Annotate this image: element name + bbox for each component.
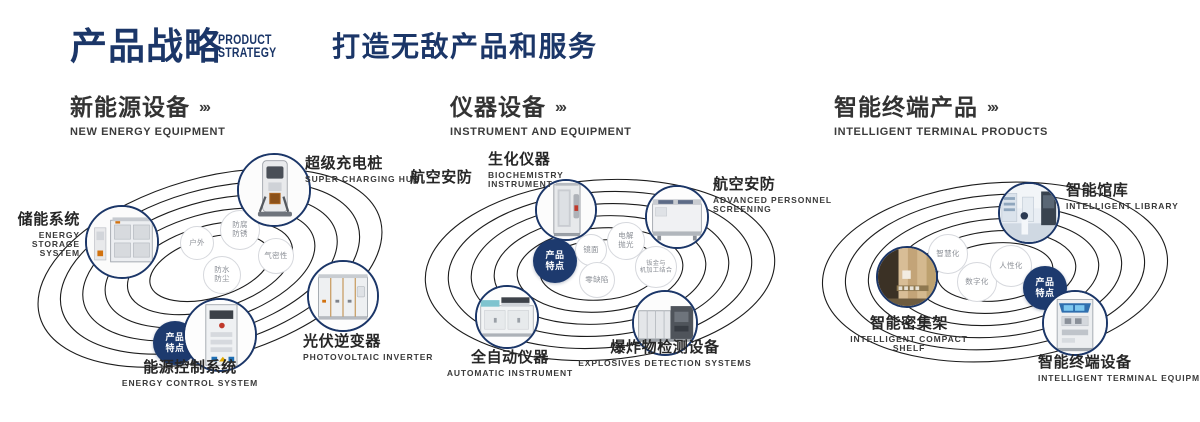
cluster-intelligent-terminal: 智慧化 数字化 人性化 产品特点 xyxy=(800,150,1200,415)
chevron-triple-icon-2: ››› xyxy=(555,100,565,116)
node-advanced-personnel-screening[interactable] xyxy=(645,185,709,249)
cluster-new-energy: 产品特点 户外 防腐 防锈 防水 防尘 气密性 xyxy=(0,150,400,415)
section-title-en-2: INSTRUMENT AND EQUIPMENT xyxy=(450,126,631,138)
node-intelligent-terminal-equipment[interactable] xyxy=(1042,290,1108,356)
feature-bubble-zero-defect: 零缺陷 xyxy=(579,262,615,298)
chevron-triple-icon-3: ››› xyxy=(987,100,997,116)
charging-pile-icon xyxy=(239,155,309,225)
auto-analyzer-icon xyxy=(477,287,537,347)
section-title-en-1: NEW ENERGY EQUIPMENT xyxy=(70,126,225,138)
node-super-charging-hub[interactable] xyxy=(237,153,311,227)
section-title-cn-3: 智能终端产品››› xyxy=(834,96,1048,119)
feature-text-0-3: 气密性 xyxy=(264,252,287,261)
section-heading-new-energy: 新能源设备››› NEW ENERGY EQUIPMENT xyxy=(70,96,225,138)
feature-text-1-0: 镜面 xyxy=(583,246,599,255)
product-strategy-infographic: 产品战略 PRODUCT STRATEGY 打造无敌产品和服务 新能源设备›››… xyxy=(0,0,1200,422)
chevron-triple-icon-1: ››› xyxy=(199,100,209,116)
section-heading-intelligent: 智能终端产品››› INTELLIGENT TERMINAL PRODUCTS xyxy=(834,96,1048,138)
feature-bubble-sheetmetal-machining: 钣金与 机加工结合 xyxy=(635,246,677,288)
node-intelligent-library[interactable] xyxy=(998,182,1060,244)
feature-text-2-2: 人性化 xyxy=(999,262,1022,271)
feature-bubble-airtight: 气密性 xyxy=(258,238,294,274)
core-bubble-instrument: 产品特点 xyxy=(533,239,577,283)
feature-text-0-2: 防水 防尘 xyxy=(214,266,230,283)
section-heading-instrument: 仪器设备››› INSTRUMENT AND EQUIPMENT xyxy=(450,96,631,138)
node-label-energy-storage-system: 储能系统 ENERGY STORAGE SYSTEM xyxy=(0,212,80,258)
node-label-energy-control-system: 能源控制系统 ENERGY CONTROL SYSTEM xyxy=(80,360,300,388)
security-scanner-icon xyxy=(537,181,595,239)
page-header: 产品战略 PRODUCT STRATEGY 打造无敌产品和服务 xyxy=(0,0,1200,86)
section-title-cn-1: 新能源设备››› xyxy=(70,96,225,119)
feature-text-1-1: 电解 抛光 xyxy=(618,232,634,249)
node-intelligent-compact-shelf[interactable] xyxy=(876,246,938,308)
node-label-automatic-instrument: 全自动仪器 AUTOMATIC INSTRUMENT xyxy=(420,350,600,378)
screening-machine-icon xyxy=(647,187,707,247)
page-title-en: PRODUCT STRATEGY xyxy=(218,33,276,59)
feature-text-0-0: 户外 xyxy=(189,239,205,248)
feature-text-2-1: 数字化 xyxy=(965,278,988,287)
node-label-intelligent-terminal-equipment: 智能终端设备 INTELLIGENT TERMINAL EQUIPMENT xyxy=(1038,355,1200,383)
feature-text-1-3: 钣金与 机加工结合 xyxy=(640,260,672,274)
pv-inverter-icon xyxy=(309,262,377,330)
node-automatic-instrument[interactable] xyxy=(475,285,539,349)
node-photovoltaic-inverter[interactable] xyxy=(307,260,379,332)
page-title-cn: 产品战略 xyxy=(70,28,222,65)
node-label-intelligent-compact-shelf: 智能密集架 INTELLIGENT COMPACT SHELF xyxy=(825,316,993,353)
cluster-instrument: 产品特点 镜面 电解 抛光 零缺陷 钣金与 机加工结合 航空安防 xyxy=(400,150,800,415)
feature-bubble-outdoor: 户外 xyxy=(180,226,214,260)
node-energy-storage-system[interactable] xyxy=(85,205,159,279)
page-slogan: 打造无敌产品和服务 xyxy=(332,33,598,61)
compact-shelf-icon xyxy=(878,248,936,306)
node-label-intelligent-library: 智能馆库 INTELLIGENT LIBRARY xyxy=(1066,183,1200,211)
self-service-kiosk-icon xyxy=(1044,292,1106,354)
feature-text-1-2: 零缺陷 xyxy=(585,276,608,285)
feature-text-2-0: 智慧化 xyxy=(936,250,959,259)
smart-library-icon xyxy=(1000,184,1058,242)
section-title-en-3: INTELLIGENT TERMINAL PRODUCTS xyxy=(834,126,1048,138)
energy-storage-cabinet-icon xyxy=(87,207,157,277)
node-label-biochemistry-instrument: 生化仪器 BIOCHEMISTRY INSTRUMENT xyxy=(488,152,608,189)
section-title-cn-2: 仪器设备››› xyxy=(450,96,631,119)
feature-bubble-waterproof: 防水 防尘 xyxy=(203,256,241,294)
